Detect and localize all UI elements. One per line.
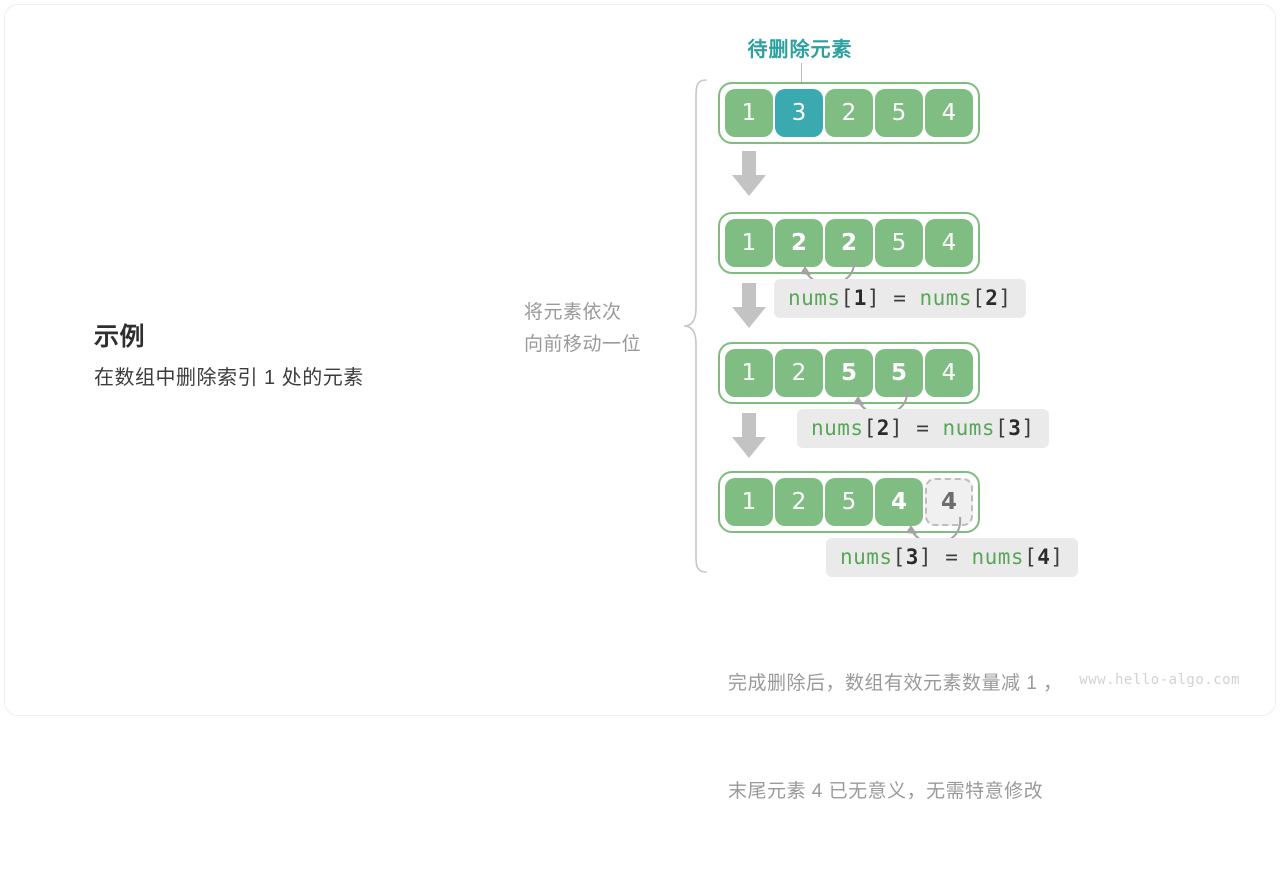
code-token: ] [919, 545, 932, 569]
watermark: www.hello-algo.com [1079, 672, 1240, 688]
code-token: 2 [985, 286, 998, 310]
array-cell: 1 [725, 219, 773, 267]
code-token: ] [1021, 416, 1034, 440]
code-token: = [880, 286, 919, 310]
array-cell: 4 [925, 349, 973, 397]
code-token: nums [942, 416, 995, 440]
array-cell: 5 [875, 349, 923, 397]
code-token: [ [864, 416, 877, 440]
example-text-block: 示例 在数组中删除索引 1 处的元素 [94, 320, 514, 392]
code-annotation-2: nums[2] = nums[3] [797, 409, 1049, 448]
shift-note: 将元素依次 向前移动一位 [524, 297, 674, 361]
delete-target-label: 待删除元素 [700, 33, 900, 62]
array-cell: 4 [925, 89, 973, 137]
code-token: [ [995, 416, 1008, 440]
grouping-brace-icon [682, 78, 708, 574]
code-token: nums [971, 545, 1024, 569]
array-cell: 5 [875, 219, 923, 267]
array-cell: 2 [775, 478, 823, 526]
code-token: ] [890, 416, 903, 440]
example-title: 示例 [94, 320, 514, 354]
array-cell: 2 [825, 219, 873, 267]
array-cell: 2 [775, 219, 823, 267]
code-token: nums [811, 416, 864, 440]
code-token: nums [840, 545, 893, 569]
array-cell: 1 [725, 89, 773, 137]
array-row-step3: 12544 [718, 471, 980, 533]
diagram-canvas: 示例 在数组中删除索引 1 处的元素 将元素依次 向前移动一位 待删除元素 13… [0, 0, 1280, 720]
shift-note-line2: 向前移动一位 [524, 329, 674, 361]
array-cell: 4 [925, 219, 973, 267]
array-cell: 1 [725, 478, 773, 526]
array-cell: 4 [925, 478, 973, 526]
array-cell: 4 [875, 478, 923, 526]
down-arrow-icon-2 [731, 283, 767, 329]
code-annotation-3: nums[3] = nums[4] [826, 538, 1078, 577]
array-cell: 2 [825, 89, 873, 137]
array-cell: 3 [775, 89, 823, 137]
down-arrow-icon-1 [731, 151, 767, 197]
code-annotation-1: nums[1] = nums[2] [774, 279, 1026, 318]
code-token: [ [841, 286, 854, 310]
code-token: 3 [1008, 416, 1021, 440]
code-token: 1 [854, 286, 867, 310]
array-row-step2: 12554 [718, 342, 980, 404]
code-token: 2 [877, 416, 890, 440]
code-token: nums [788, 286, 841, 310]
example-description: 在数组中删除索引 1 处的元素 [94, 364, 514, 392]
code-token: ] [867, 286, 880, 310]
code-token: 4 [1037, 545, 1050, 569]
shift-note-line1: 将元素依次 [524, 297, 674, 329]
array-row-step1: 12254 [718, 212, 980, 274]
array-cell: 5 [875, 89, 923, 137]
down-arrow-icon-3 [731, 413, 767, 459]
code-token: ] [998, 286, 1011, 310]
array-cell: 2 [775, 349, 823, 397]
result-note: 完成删除后，数组有效元素数量减 1 ， 末尾元素 4 已无意义，无需特意修改 [728, 594, 1198, 882]
code-token: [ [972, 286, 985, 310]
result-note-line2: 末尾元素 4 已无意义，无需特意修改 [728, 774, 1198, 810]
code-token: ] [1050, 545, 1063, 569]
code-token: nums [919, 286, 972, 310]
array-row-initial: 13254 [718, 82, 980, 144]
array-cell: 1 [725, 349, 773, 397]
code-token: = [932, 545, 971, 569]
array-cell: 5 [825, 478, 873, 526]
code-token: [ [893, 545, 906, 569]
code-token: [ [1024, 545, 1037, 569]
code-token: 3 [906, 545, 919, 569]
code-token: = [903, 416, 942, 440]
array-cell: 5 [825, 349, 873, 397]
